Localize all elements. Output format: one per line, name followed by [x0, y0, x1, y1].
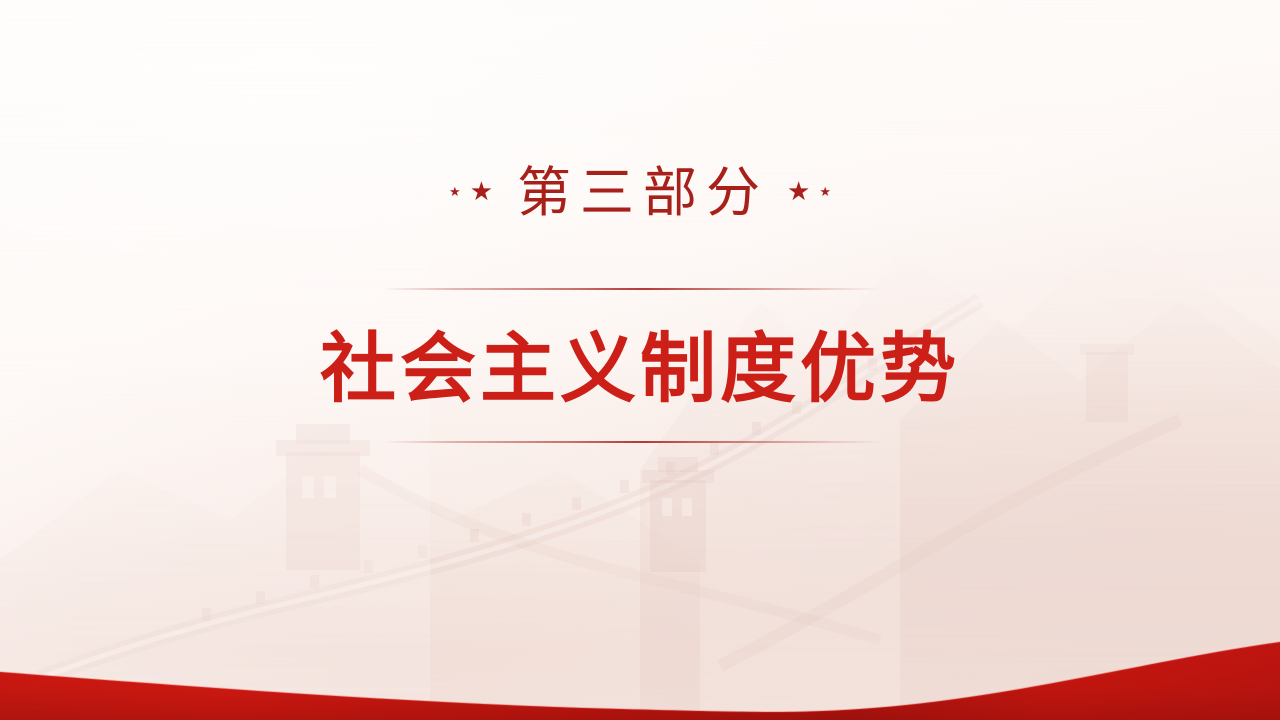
divider-top: [382, 288, 882, 290]
section-header: ★ ★ 第三部分 ★ ★: [0, 150, 1280, 236]
section-label: 第三部分: [511, 166, 769, 220]
stars-left: ★ ★: [449, 178, 493, 208]
stars-right: ★ ★: [787, 178, 831, 208]
divider-bottom: [382, 441, 882, 443]
section-label-row: ★ ★ 第三部分 ★ ★: [0, 150, 1280, 236]
star-icon: ★: [449, 185, 461, 198]
star-icon: ★: [819, 185, 831, 198]
page-title: 社会主义制度优势: [0, 322, 1280, 416]
slide-canvas: ★ ★ 第三部分 ★ ★ 社会主义制度优势: [0, 0, 1280, 720]
star-icon: ★: [787, 178, 810, 204]
star-icon: ★: [470, 178, 493, 204]
